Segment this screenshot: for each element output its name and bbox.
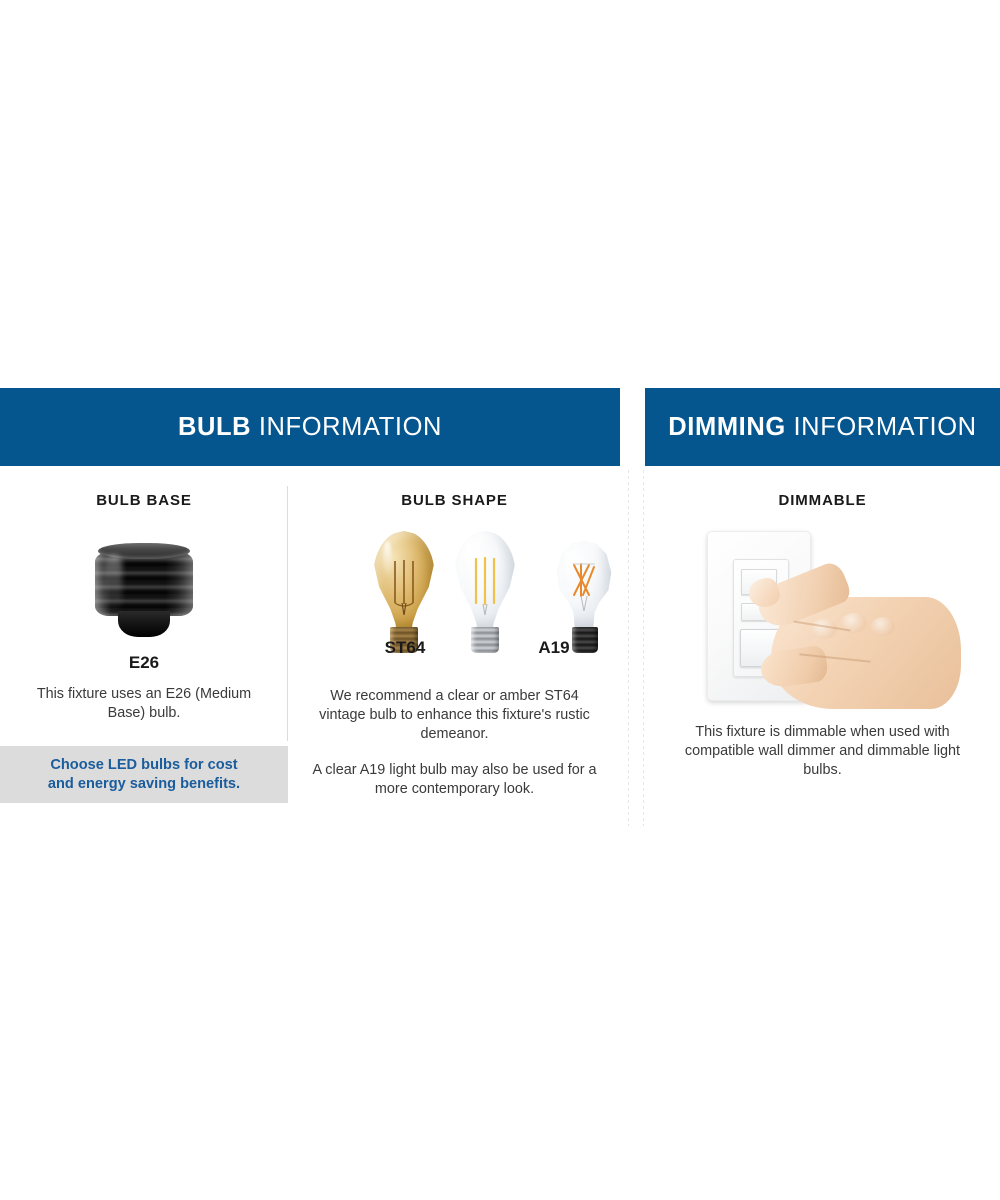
clear-st64-base: [471, 627, 499, 653]
bulb-base-column: BULB BASE E26 This fixture uses an E26 (…: [0, 466, 288, 723]
callout-line-1: Choose LED bulbs for cost: [50, 757, 237, 773]
bulb-base-label: E26: [0, 653, 288, 673]
bulb-information-header: BULB INFORMATION: [0, 388, 620, 466]
bulb-base-description: This fixture uses an E26 (Medium Base) b…: [0, 685, 288, 723]
panel-separator-dashed-left: [628, 470, 629, 826]
socket-tip: [118, 611, 170, 637]
dimming-header-strong: DIMMING: [668, 413, 786, 441]
e26-socket-icon-wrapper: [0, 531, 288, 639]
wall-dimmer-switch-icon-wrapper: [645, 523, 1000, 713]
bulb-shape-title: BULB SHAPE: [289, 492, 620, 509]
dimmable-description: This fixture is dimmable when used with …: [645, 723, 1000, 780]
bulb-and-dimming-information-page: BULB INFORMATION DIMMING INFORMATION BUL…: [0, 0, 1000, 1200]
dimmable-title: DIMMABLE: [645, 492, 1000, 509]
callout-line-2: and energy saving benefits.: [48, 776, 240, 792]
bulb-information-header-text: BULB INFORMATION: [178, 413, 442, 442]
hand-knuckle-3: [871, 617, 895, 636]
led-bulb-callout: Choose LED bulbs for cost and energy sav…: [0, 746, 288, 803]
hand-pressing-icon: [737, 553, 957, 713]
clear-a19-bulb-icon: [555, 541, 613, 653]
bulb-shape-paragraph-1: We recommend a clear or amber ST64 vinta…: [289, 687, 620, 744]
clear-st64-bulb-icon: [454, 531, 516, 653]
dimming-header-rest: INFORMATION: [786, 413, 977, 441]
clear-st64-filament: [470, 557, 500, 615]
bulb-shape-column: BULB SHAPE: [289, 466, 620, 799]
amber-st64-filament: [389, 559, 419, 615]
dimmable-column: DIMMABLE: [645, 466, 1000, 780]
bulb-caption-a19: A19: [504, 638, 604, 658]
bulb-shape-paragraph-2: A clear A19 light bulb may also be used …: [289, 761, 620, 799]
panel-separator-dashed-right: [643, 470, 644, 826]
bulb-caption-st64: ST64: [355, 638, 455, 658]
bulb-base-title: BULB BASE: [0, 492, 288, 509]
e26-socket-icon: [92, 543, 196, 639]
dimming-information-panel: DIMMABLE: [645, 466, 1000, 826]
bulb-header-strong: BULB: [178, 413, 251, 441]
dimming-information-header-text: DIMMING INFORMATION: [668, 413, 976, 442]
led-bulb-callout-text: Choose LED bulbs for cost and energy sav…: [48, 756, 240, 794]
clear-a19-filament: [569, 561, 599, 611]
hand-knuckle-1: [811, 619, 837, 639]
bulb-shape-icons-row: [289, 525, 620, 653]
dimming-information-header: DIMMING INFORMATION: [645, 388, 1000, 466]
amber-st64-bulb-icon: [373, 531, 435, 653]
bulb-header-rest: INFORMATION: [251, 413, 442, 441]
socket-highlight: [106, 555, 122, 611]
